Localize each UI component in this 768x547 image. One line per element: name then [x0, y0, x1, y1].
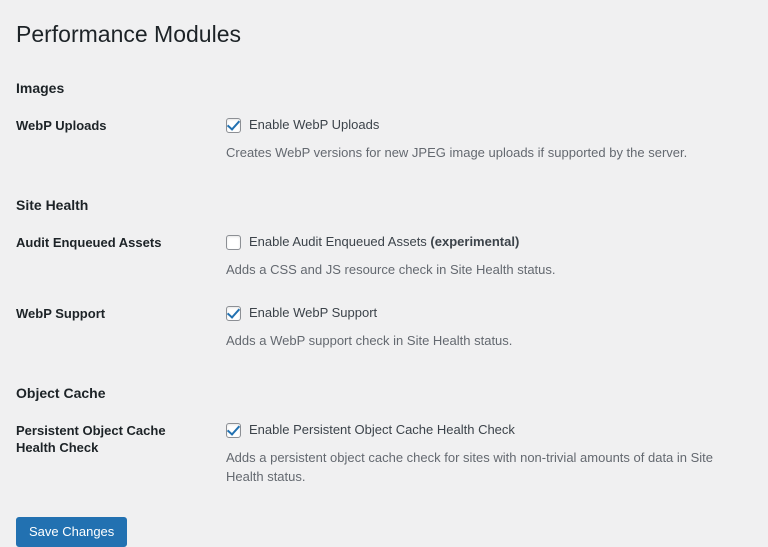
setting-checkbox-row[interactable]: Enable WebP Uploads — [226, 117, 742, 133]
checkbox-label: Enable Persistent Object Cache Health Ch… — [249, 422, 515, 438]
checkbox-label: Enable Audit Enqueued Assets (experiment… — [249, 234, 519, 250]
settings-row: WebP SupportEnable WebP SupportAdds a We… — [16, 292, 752, 363]
setting-label: Audit Enqueued Assets — [16, 221, 216, 292]
settings-row: Audit Enqueued AssetsEnable Audit Enqueu… — [16, 221, 752, 292]
setting-control-cell: Enable WebP SupportAdds a WebP support c… — [216, 292, 752, 363]
section-heading: Images — [16, 58, 752, 104]
checkbox-checked-icon[interactable] — [226, 118, 241, 133]
setting-description: Adds a CSS and JS resource check in Site… — [226, 261, 742, 279]
setting-control-cell: Enable Audit Enqueued Assets (experiment… — [216, 221, 752, 292]
settings-table: Persistent Object Cache Health CheckEnab… — [16, 409, 752, 498]
page-title: Performance Modules — [16, 11, 752, 54]
settings-table: Audit Enqueued AssetsEnable Audit Enqueu… — [16, 221, 752, 363]
setting-description: Adds a persistent object cache check for… — [226, 449, 742, 485]
checkbox-label-emphasis: (experimental) — [430, 234, 519, 249]
setting-description: Creates WebP versions for new JPEG image… — [226, 144, 742, 162]
checkbox-label-text: Enable Persistent Object Cache Health Ch… — [249, 422, 515, 437]
checkbox-label: Enable WebP Support — [249, 305, 377, 321]
setting-checkbox-row[interactable]: Enable WebP Support — [226, 305, 742, 321]
checkbox-label-text: Enable WebP Uploads — [249, 117, 379, 132]
save-changes-button[interactable]: Save Changes — [16, 517, 127, 547]
settings-row: Persistent Object Cache Health CheckEnab… — [16, 409, 752, 498]
settings-table: WebP UploadsEnable WebP UploadsCreates W… — [16, 104, 752, 175]
checkbox-unchecked-icon[interactable] — [226, 235, 241, 250]
checkbox-label-text: Enable Audit Enqueued Assets — [249, 234, 430, 249]
settings-row: WebP UploadsEnable WebP UploadsCreates W… — [16, 104, 752, 175]
performance-modules-page: Performance Modules ImagesWebP UploadsEn… — [0, 0, 768, 547]
submit-area: Save Changes — [16, 499, 752, 547]
checkbox-checked-icon[interactable] — [226, 423, 241, 438]
setting-label: Persistent Object Cache Health Check — [16, 409, 216, 498]
checkbox-checked-icon[interactable] — [226, 306, 241, 321]
section-heading: Site Health — [16, 175, 752, 221]
section-heading: Object Cache — [16, 363, 752, 409]
checkbox-label: Enable WebP Uploads — [249, 117, 379, 133]
settings-sections: ImagesWebP UploadsEnable WebP UploadsCre… — [16, 58, 752, 499]
setting-description: Adds a WebP support check in Site Health… — [226, 332, 742, 350]
checkbox-label-text: Enable WebP Support — [249, 305, 377, 320]
setting-label: WebP Uploads — [16, 104, 216, 175]
setting-label: WebP Support — [16, 292, 216, 363]
setting-checkbox-row[interactable]: Enable Audit Enqueued Assets (experiment… — [226, 234, 742, 250]
setting-control-cell: Enable WebP UploadsCreates WebP versions… — [216, 104, 752, 175]
setting-control-cell: Enable Persistent Object Cache Health Ch… — [216, 409, 752, 498]
setting-checkbox-row[interactable]: Enable Persistent Object Cache Health Ch… — [226, 422, 742, 438]
